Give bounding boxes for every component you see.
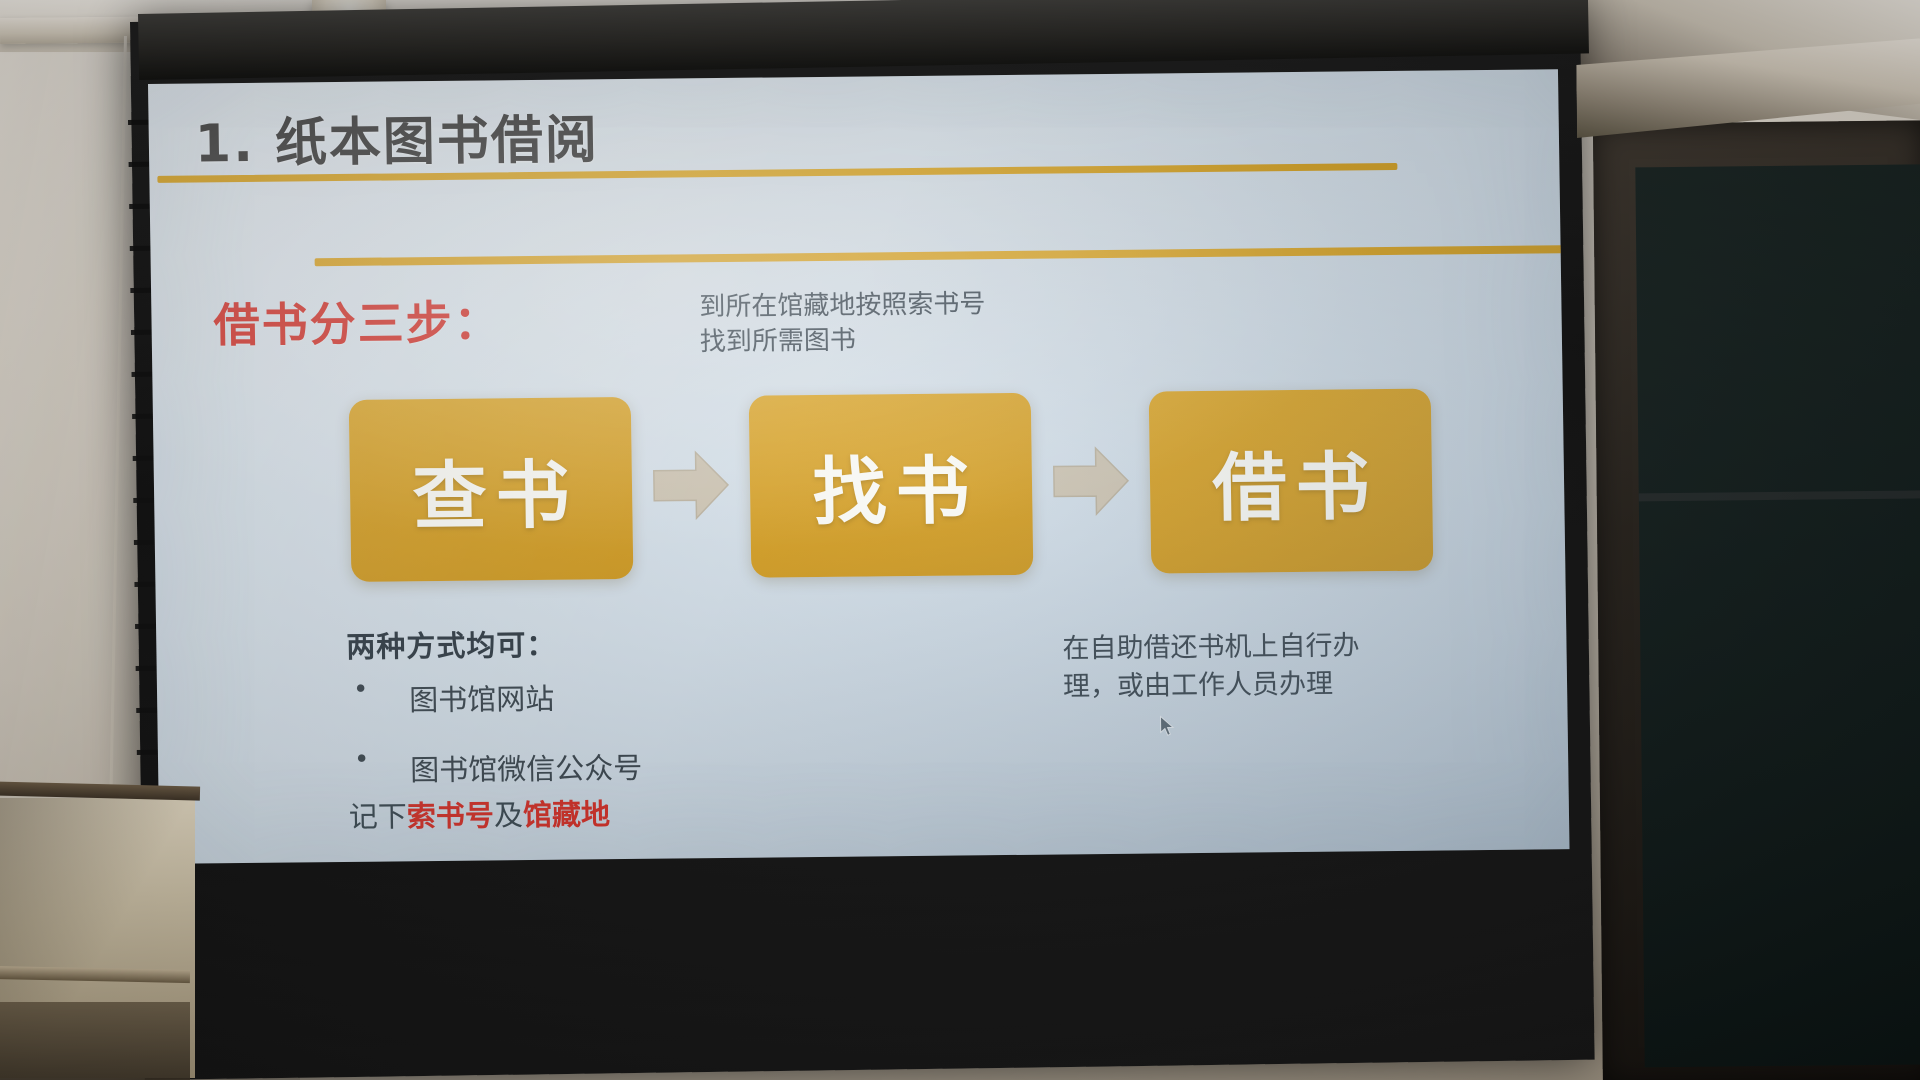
footnote-red-call-number: 索书号 [407, 798, 495, 833]
step-box-1: 查书 [349, 397, 634, 582]
step-box-1-label: 查书 [403, 435, 580, 544]
note-top-right: 到所在馆藏地按照索书号找到所需图书 [699, 287, 1000, 360]
list-item: 图书馆网站 [347, 673, 818, 720]
window-glass [1635, 164, 1920, 1067]
footnote-mid: 及 [494, 798, 524, 832]
dark-window [1576, 38, 1920, 1080]
footnote-prefix: 记下 [349, 799, 408, 834]
section-gold-rule [315, 245, 1565, 266]
footnote-red-location: 馆藏地 [523, 797, 611, 832]
steps-row: 查书 找书 借书 [349, 388, 1472, 586]
mouse-pointer-icon [1159, 715, 1175, 737]
footnote-record-callnumber: 记下索书号及馆藏地 [349, 791, 611, 836]
arrow-1-icon [651, 448, 730, 523]
list-item: 图书馆微信公众号 [348, 743, 819, 790]
cabinet-lower-panel [0, 1002, 190, 1080]
classroom-photo-scene: 1. 纸本图书借阅 借书分三步： 到所在馆藏地按照索书号找到所需图书 查书 找书 [0, 0, 1920, 1080]
wall-cabinet [0, 772, 186, 1080]
step-box-2: 找书 [749, 393, 1034, 578]
step-box-3-label: 借书 [1203, 427, 1380, 536]
projected-slide: 1. 纸本图书借阅 借书分三步： 到所在馆藏地按照索书号找到所需图书 查书 找书 [148, 69, 1570, 864]
left-block-heading: 两种方式均可： [346, 622, 557, 666]
step-box-2-label: 找书 [803, 431, 980, 540]
red-heading: 借书分三步： [213, 286, 502, 355]
arrow-2-icon [1051, 444, 1130, 519]
slide-title: 1. 纸本图书借阅 [194, 97, 599, 176]
note-bottom-right: 在自助借还书机上自行办理，或由工作人员办理 [1062, 627, 1393, 706]
step-box-3: 借书 [1149, 389, 1434, 574]
